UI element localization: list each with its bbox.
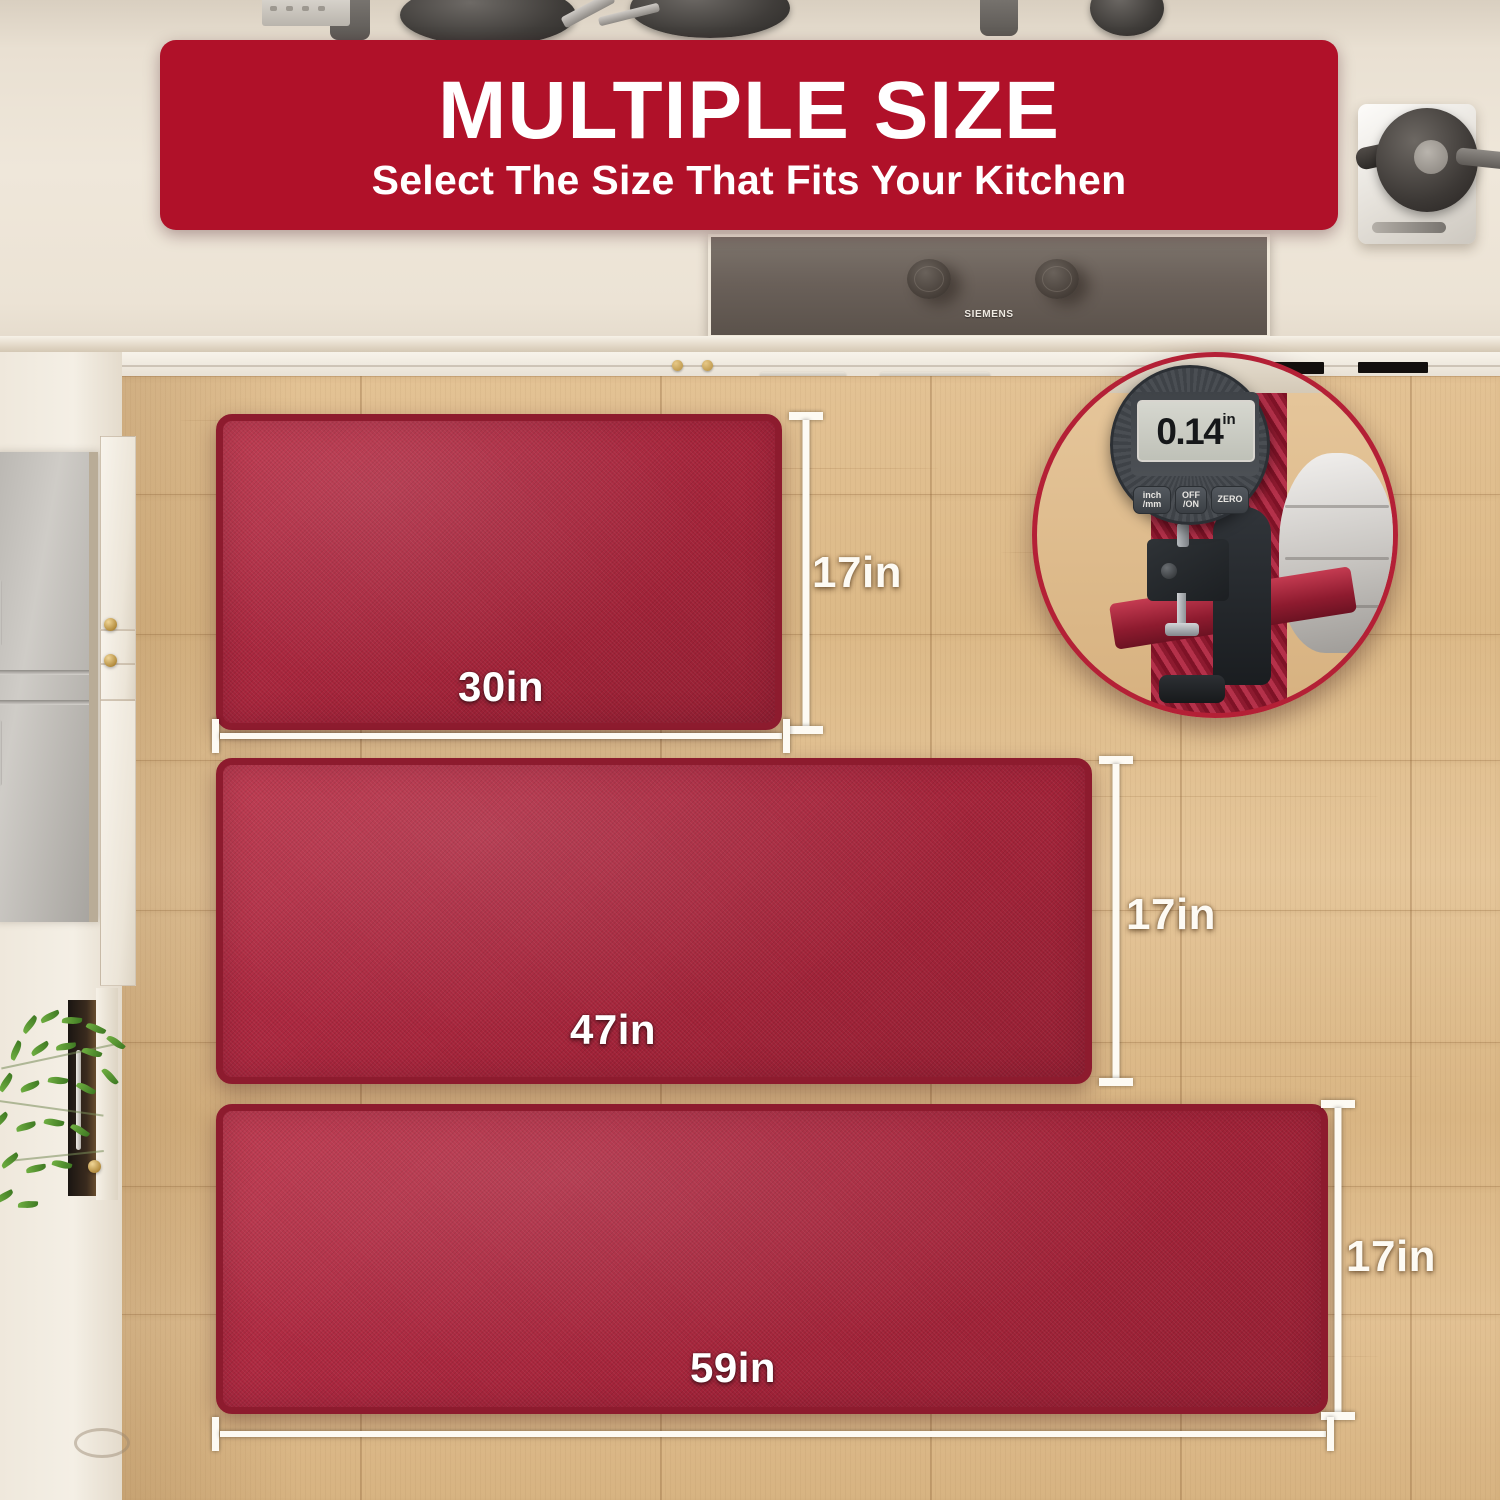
dimension-line-width-1 [212, 716, 790, 756]
burner-knob-left [907, 259, 951, 299]
stainless-appliance [0, 452, 98, 922]
mat-width-label-47in: 47in [570, 1006, 656, 1054]
infographic-stage: SIEMENS [0, 0, 1500, 1500]
burner-knob-right [1035, 259, 1079, 299]
dimension-label-height-2: 17in [1126, 890, 1216, 940]
cabinet-knob [702, 360, 713, 371]
dimension-label-height-3: 17in [1346, 1232, 1436, 1282]
inset-pad [1279, 453, 1395, 653]
thickness-gauge-inset: 0.14 in inch /mm OFF /ON ZERO [1032, 352, 1398, 718]
gauge-unit: in [1222, 411, 1235, 428]
grater-icon [262, 0, 350, 26]
cabinet-knob [104, 654, 117, 667]
gauge-dial-head: 0.14 in inch /mm OFF /ON ZERO [1110, 365, 1270, 525]
gauge-measuring-tip [1165, 623, 1199, 636]
kettle-lid [1414, 140, 1448, 174]
header-banner: MULTIPLE SIZE Select The Size That Fits … [160, 40, 1338, 230]
inset-hooks [1297, 355, 1398, 387]
cabinet-drawer [100, 664, 136, 700]
mat-width-label-30in: 30in [458, 663, 544, 711]
gauge-value: 0.14 [1156, 413, 1222, 450]
upper-cabinet-door [100, 436, 136, 630]
cooktop: SIEMENS [708, 234, 1270, 338]
dimension-label-height-1: 17in [812, 548, 902, 598]
houseplant [0, 995, 180, 1265]
lower-cabinet-door [100, 700, 136, 986]
gauge-foot [1159, 675, 1225, 703]
gauge-button-zero[interactable]: ZERO [1211, 486, 1249, 514]
gauge-button-line2: /ON [1183, 500, 1199, 509]
gauge-button-line2: /mm [1143, 500, 1162, 509]
plant-pot [74, 1428, 130, 1458]
dimension-line-width-3 [212, 1414, 1334, 1454]
gauge-button-off-on[interactable]: OFF /ON [1175, 486, 1207, 514]
gauge-probe [1177, 593, 1186, 627]
mat-width-label-59in: 59in [690, 1344, 776, 1392]
cabinet-knob [104, 618, 117, 631]
cooktop-brand-label: SIEMENS [964, 309, 1013, 320]
pot-icon [1090, 0, 1164, 36]
gauge-stem [1177, 523, 1189, 547]
container-icon [980, 0, 1018, 36]
banner-title: MULTIPLE SIZE [438, 70, 1060, 152]
gauge-button-line1: ZERO [1217, 495, 1242, 504]
gauge-body-block [1147, 539, 1229, 601]
gauge-button-inch-mm[interactable]: inch /mm [1133, 486, 1171, 514]
cabinet-knob [672, 360, 683, 371]
inset-gap [1043, 355, 1109, 368]
banner-subtitle: Select The Size That Fits Your Kitchen [372, 160, 1127, 201]
kettle-control-strip [1372, 222, 1446, 233]
gauge-lcd-display: 0.14 in [1137, 400, 1255, 462]
